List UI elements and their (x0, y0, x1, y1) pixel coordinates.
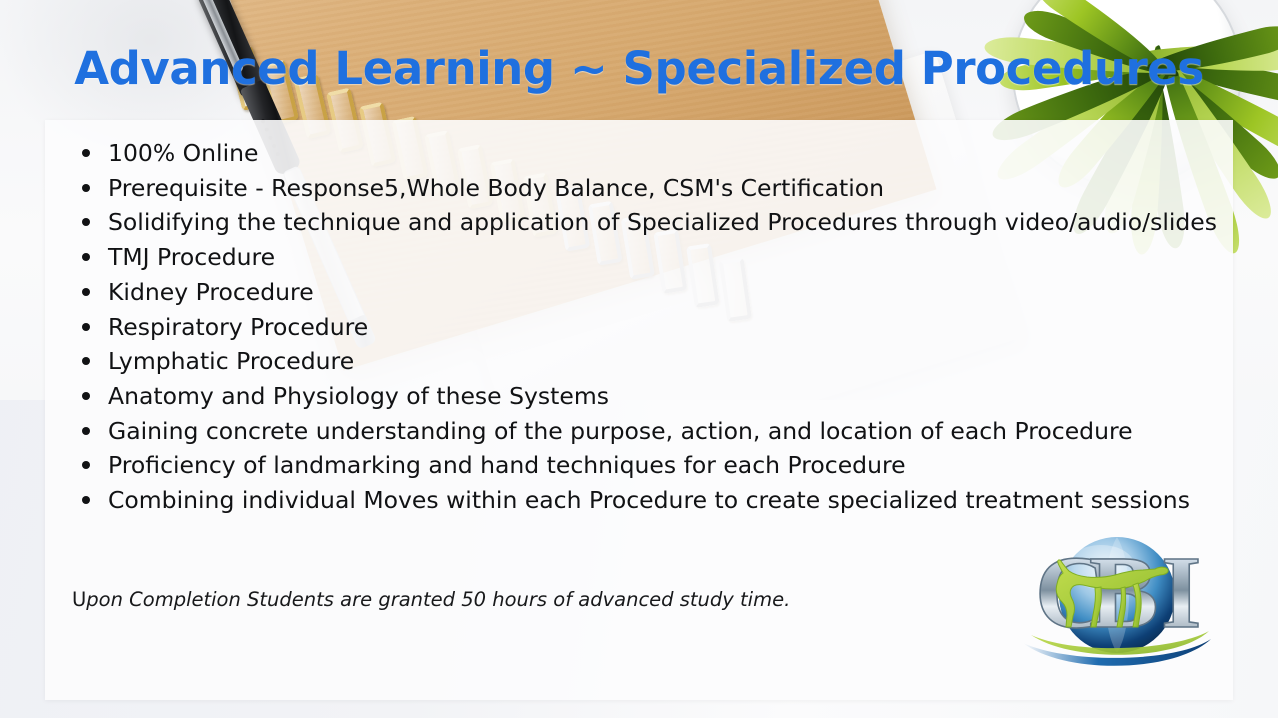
footnote-text: pon Completion Students are granted 50 h… (86, 588, 790, 611)
list-item: Respiratory Procedure (108, 310, 1217, 345)
list-item-label: TMJ Procedure (108, 243, 275, 271)
bullet-dot-icon (82, 323, 90, 331)
list-item-label: Combining individual Moves within each P… (108, 486, 1190, 514)
list-item: Proficiency of landmarking and hand tech… (108, 448, 1217, 483)
list-item: Anatomy and Physiology of these Systems (108, 379, 1217, 414)
bullet-dot-icon (82, 357, 90, 365)
list-item: Prerequisite - Response5,Whole Body Bala… (108, 171, 1217, 206)
list-item-label: Prerequisite - Response5,Whole Body Bala… (108, 174, 884, 202)
list-item-label: Lymphatic Procedure (108, 347, 354, 375)
bullet-dot-icon (82, 288, 90, 296)
bullet-list: 100% Online Prerequisite - Response5,Who… (78, 136, 1217, 518)
footnote: Upon Completion Students are granted 50 … (72, 588, 790, 611)
list-item-label: Proficiency of landmarking and hand tech… (108, 451, 906, 479)
cbi-logo-icon: C B I (1005, 523, 1220, 673)
bullet-dot-icon (82, 218, 90, 226)
list-item: Combining individual Moves within each P… (108, 483, 1217, 518)
slide: Advanced Learning ~ Specialized Procedur… (0, 0, 1278, 718)
bullet-dot-icon (82, 461, 90, 469)
logo-letter-i: I (1161, 535, 1201, 650)
list-item-label: Kidney Procedure (108, 278, 314, 306)
page-title: Advanced Learning ~ Specialized Procedur… (0, 42, 1278, 95)
list-item: TMJ Procedure (108, 240, 1217, 275)
list-item: Kidney Procedure (108, 275, 1217, 310)
list-item: Solidifying the technique and applicatio… (108, 205, 1217, 240)
bullet-dot-icon (82, 427, 90, 435)
bullet-dot-icon (82, 184, 90, 192)
list-item: Gaining concrete understanding of the pu… (108, 414, 1217, 449)
bullet-dot-icon (82, 496, 90, 504)
footnote-lead: U (72, 588, 86, 611)
bullet-dot-icon (82, 149, 90, 157)
list-item-label: Respiratory Procedure (108, 313, 368, 341)
list-item-label: Solidifying the technique and applicatio… (108, 208, 1217, 236)
list-item: Lymphatic Procedure (108, 344, 1217, 379)
cbi-logo: C B I (1005, 523, 1220, 673)
bullet-dot-icon (82, 253, 90, 261)
list-item-label: 100% Online (108, 139, 258, 167)
list-item-label: Anatomy and Physiology of these Systems (108, 382, 609, 410)
list-item: 100% Online (108, 136, 1217, 171)
bullet-dot-icon (82, 392, 90, 400)
list-item-label: Gaining concrete understanding of the pu… (108, 417, 1133, 445)
